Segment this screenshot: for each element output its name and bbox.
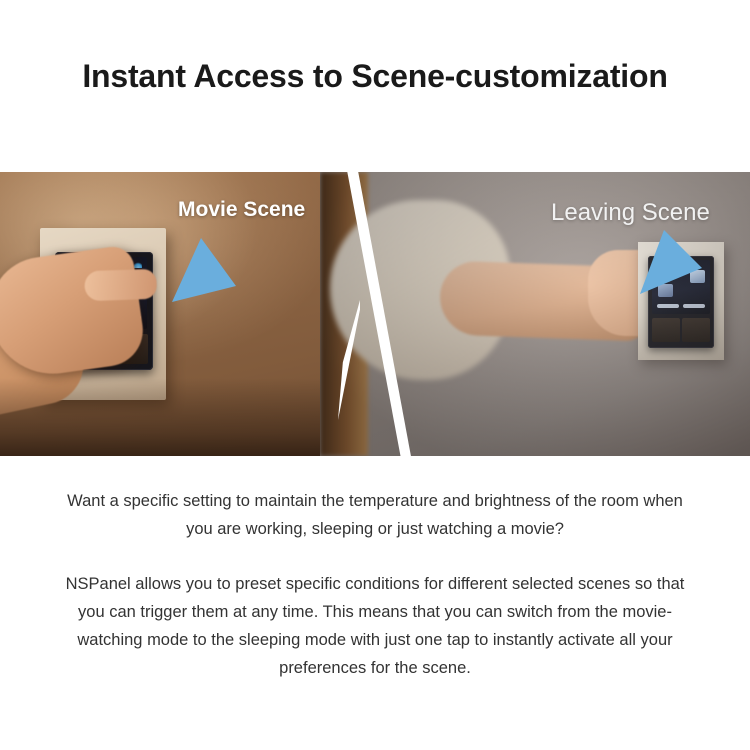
triangle-pointer-icon-right <box>630 228 704 300</box>
body-copy: Want a specific setting to maintain the … <box>60 487 690 682</box>
page-title: Instant Access to Scene-customization <box>0 56 750 96</box>
paragraph-1: Want a specific setting to maintain the … <box>60 487 690 543</box>
wifi-icon <box>134 261 142 268</box>
paragraph-2: NSPanel allows you to preset specific co… <box>60 570 690 682</box>
promo-page: Instant Access to Scene-customization <box>0 0 750 750</box>
triangle-pointer-icon-left <box>168 234 240 306</box>
right-scene-label: Leaving Scene <box>551 199 710 227</box>
left-scene-label: Movie Scene <box>178 198 305 222</box>
